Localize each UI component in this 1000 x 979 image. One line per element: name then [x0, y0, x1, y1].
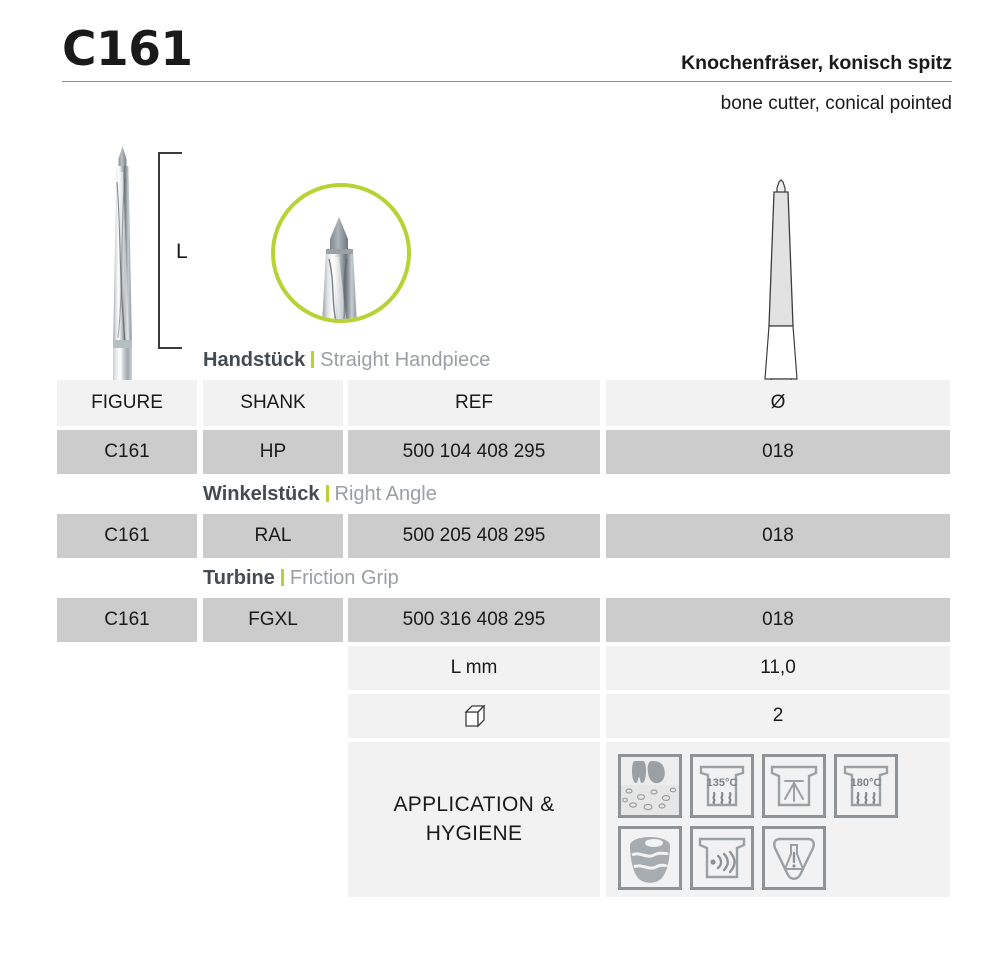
page-header: C161 Knochenfräser, konisch spitz bone c…: [0, 0, 1000, 128]
column-header-shank: SHANK: [203, 380, 343, 426]
packaging-row: 2: [0, 694, 1000, 738]
section-header-winkelstueck: WinkelstückRight Angle: [0, 474, 1000, 514]
cell-ref: 500 205 408 295: [348, 514, 600, 558]
column-header-diameter: Ø: [606, 380, 950, 426]
box-icon: [459, 701, 489, 731]
ultrasonic-cleaning-icon: [690, 826, 754, 890]
tip-detail-magnifier: [271, 183, 411, 323]
table-header-row: FIGURE SHANK REF Ø: [0, 380, 1000, 426]
section-separator-icon: [281, 569, 284, 586]
chemical-disinfection-warning-icon: [762, 826, 826, 890]
application-hygiene-row: APPLICATION & HYGIENE: [0, 742, 1000, 897]
section-label-en: Friction Grip: [290, 567, 399, 589]
product-name-de: Knochenfräser, konisch spitz: [681, 52, 952, 75]
application-label-line1: APPLICATION &: [393, 793, 554, 816]
section-label-de: Handstück: [203, 349, 305, 371]
thermo-disinfector-icon: [762, 754, 826, 818]
section-separator-icon: [326, 485, 329, 502]
bur-working-part: [110, 142, 135, 362]
column-header-ref: REF: [348, 380, 600, 426]
hot-air-sterilization-180-icon: 180°C: [834, 754, 898, 818]
section-label-de: Turbine: [203, 567, 275, 589]
length-label: L mm: [348, 646, 600, 690]
header-divider: [62, 81, 952, 82]
cell-figure: C161: [57, 598, 197, 642]
specification-table: HandstückStraight Handpiece FIGURE SHANK…: [0, 340, 1000, 897]
cell-ref: 500 316 408 295: [348, 598, 600, 642]
section-header-turbine: TurbineFriction Grip: [0, 558, 1000, 598]
magnified-tip-graphic: [317, 213, 363, 323]
section-separator-icon: [311, 351, 314, 368]
section-label-en: Right Angle: [335, 483, 437, 505]
cell-figure: C161: [57, 430, 197, 474]
temperature-label: 135°C: [707, 777, 738, 789]
table-row[interactable]: C161 HP 500 104 408 295 018: [0, 430, 1000, 474]
application-hygiene-label: APPLICATION & HYGIENE: [348, 742, 600, 897]
hygiene-icon-group: 135°C: [606, 742, 950, 897]
length-dimension-label: L: [176, 240, 188, 264]
page-title: C161: [62, 22, 193, 77]
cell-shank: RAL: [203, 514, 343, 558]
product-name-en: bone cutter, conical pointed: [721, 93, 952, 115]
column-header-figure: FIGURE: [57, 380, 197, 426]
bone-tooth-application-icon: [618, 754, 682, 818]
cell-diameter: 018: [606, 598, 950, 642]
length-row: L mm 11,0: [0, 646, 1000, 690]
packaging-value: 2: [606, 694, 950, 738]
crown-stump-application-icon: [618, 826, 682, 890]
table-row[interactable]: C161 RAL 500 205 408 295 018: [0, 514, 1000, 558]
cell-ref: 500 104 408 295: [348, 430, 600, 474]
cell-diameter: 018: [606, 430, 950, 474]
table-row[interactable]: C161 FGXL 500 316 408 295 018: [0, 598, 1000, 642]
packaging-label: [348, 694, 600, 738]
temperature-label: 180°C: [851, 777, 882, 789]
cell-diameter: 018: [606, 514, 950, 558]
section-label-de: Winkelstück: [203, 483, 320, 505]
steam-sterilization-135-icon: 135°C: [690, 754, 754, 818]
cell-shank: FGXL: [203, 598, 343, 642]
cell-shank: HP: [203, 430, 343, 474]
cell-figure: C161: [57, 514, 197, 558]
length-value: 11,0: [606, 646, 950, 690]
application-label-line2: HYGIENE: [426, 822, 523, 845]
section-label-en: Straight Handpiece: [320, 349, 490, 371]
section-header-handstueck: HandstückStraight Handpiece: [0, 340, 1000, 380]
